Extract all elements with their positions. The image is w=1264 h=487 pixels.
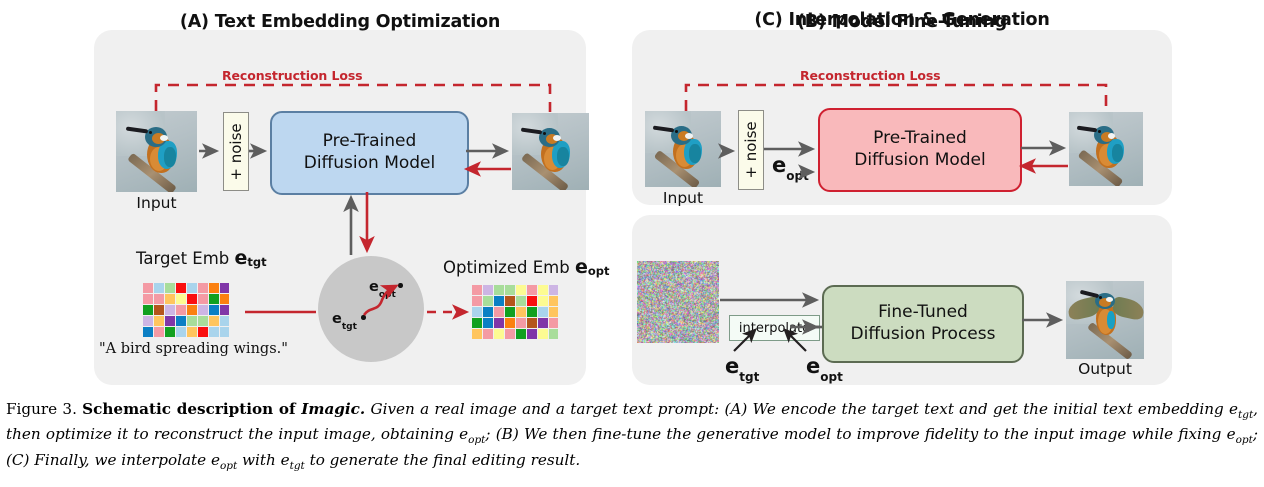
embedding-cell [516,285,526,295]
embedding-cell [198,283,208,293]
panel-b-noise-label: + noise [742,121,760,178]
panel-b-e-opt-sub: opt [786,169,809,183]
embedding-cell [176,316,186,326]
embedding-cell [505,329,515,339]
embedding-cell [154,294,164,304]
embedding-cell [549,307,559,317]
e-tgt-symbol: e [332,311,342,327]
panel-b-e-opt-symbol: e [772,153,786,177]
embedding-cell [527,318,537,328]
panel-c-e-tgt-symbol: e [725,354,739,378]
interpolate-box[interactable]: interpolate [729,315,820,341]
caption-body-1: Given a real image and a target text pro… [365,400,1238,418]
embedding-cell [549,296,559,306]
e-opt-point-label: eopt [369,279,396,298]
e-opt-symbol: e [369,279,379,295]
embedding-cell [538,285,548,295]
embedding-cell [538,296,548,306]
embedding-cell [494,296,504,306]
embedding-cell [176,327,186,337]
embedding-cell [187,283,197,293]
e-opt-dot [398,283,403,288]
caption-bold: Schematic description of [82,400,301,418]
target-embedding-grid [143,283,229,337]
optimized-embedding-grid [472,285,558,339]
panel-a-title: (A) Text Embedding Optimization [94,12,586,32]
embedding-cell [165,316,175,326]
embedding-cell [143,316,153,326]
embedding-cell [154,327,164,337]
embedding-cell [209,294,219,304]
panel-c-noise-image [637,261,719,343]
embedding-cell [538,329,548,339]
embedding-cell [494,285,504,295]
panel-c-title: (C) Interpolation & Generation [632,10,1172,30]
random-noise-canvas [637,261,719,343]
embedding-cell [165,327,175,337]
embedding-cell [472,285,482,295]
embedding-cell [220,294,230,304]
caption-body-5: with e [237,451,289,469]
caption-prefix: Figure 3. [6,400,77,418]
embedding-cell [549,329,559,339]
panel-a-output-image [512,113,589,190]
embedding-cell [516,296,526,306]
figure-stage: (A) Text Embedding Optimization Reconstr… [0,0,1264,487]
embedding-cell [516,307,526,317]
caption-sub-2: opt [468,434,485,446]
panel-a-model-box: Pre-Trained Diffusion Model [270,111,469,195]
embedding-cell [187,305,197,315]
panel-c-model-line1: Fine-Tuned [878,302,968,322]
panel-c-model-line2: Diffusion Process [851,324,996,344]
embedding-cell [483,307,493,317]
e-opt-sub: opt [379,290,396,300]
embedding-cell [472,329,482,339]
embedding-cell [154,305,164,315]
target-emb-symbol: e [235,247,248,269]
embedding-cell [220,327,230,337]
embedding-cell [527,285,537,295]
interpolate-label: interpolate [739,321,810,336]
optimized-emb-symbol: e [575,256,588,278]
embedding-cell [198,305,208,315]
panel-c-e-tgt-sub: tgt [739,370,759,384]
embedding-cell [143,327,153,337]
panel-c-output-caption: Output [1066,360,1144,378]
embedding-cell [516,329,526,339]
panel-a-target-emb-label: Target Emb etgt [136,247,267,269]
embedding-cell [220,305,230,315]
embedding-cell [143,305,153,315]
panel-a-input-image [116,111,197,192]
embedding-cell [483,296,493,306]
embedding-cell [549,318,559,328]
embedding-cell [483,318,493,328]
panel-b-output-image [1069,112,1143,186]
embedding-cell [209,327,219,337]
caption-body-3: ; (B) We then fine-tune the generative m… [485,425,1235,443]
panel-a-prompt-text: "A bird spreading wings." [99,341,288,357]
panel-c-model-box: Fine-Tuned Diffusion Process [822,285,1024,363]
panel-b-model-line1: Pre-Trained [873,128,967,148]
embedding-cell [143,283,153,293]
panel-a-model-line1: Pre-Trained [323,131,417,151]
embedding-cell [198,294,208,304]
embedding-cell [527,329,537,339]
embedding-cell [209,316,219,326]
figure-caption: Figure 3. Schematic description of Imagi… [6,398,1258,474]
embedding-cell [472,318,482,328]
embedding-cell [527,296,537,306]
panel-a-noise-label: + noise [227,123,245,180]
caption-bold-italic: Imagic. [301,400,365,418]
panel-a-optimized-emb-label: Optimized Emb eopt [443,256,609,278]
panel-c-e-tgt-label: etgt [725,354,759,381]
embedding-cell [483,329,493,339]
embedding-cell [516,318,526,328]
e-tgt-sub: tgt [342,322,357,332]
panel-c-e-opt-symbol: e [806,354,820,378]
embedding-cell [209,305,219,315]
embedding-cell [187,316,197,326]
embedding-cell [165,305,175,315]
embedding-cell [505,296,515,306]
embedding-cell [209,283,219,293]
panel-b-model-box: Pre-Trained Diffusion Model [818,108,1022,192]
embedding-cell [494,318,504,328]
embedding-cell [505,318,515,328]
optimized-emb-text: Optimized Emb [443,258,570,277]
embedding-cell [494,307,504,317]
embedding-cell [187,294,197,304]
e-tgt-point-label: etgt [332,311,357,330]
optimized-emb-sub: opt [588,264,610,278]
embedding-cell [483,285,493,295]
embedding-cell [505,285,515,295]
embedding-cell [165,294,175,304]
latent-space-circle [318,256,424,362]
embedding-cell [472,307,482,317]
e-tgt-dot [361,315,366,320]
embedding-cell [198,327,208,337]
panel-a-loss-label: Reconstruction Loss [222,68,363,83]
embedding-cell [538,318,548,328]
embedding-cell [176,305,186,315]
caption-sub-1: tgt [1238,409,1253,421]
embedding-cell [187,327,197,337]
panel-b-input-image [645,111,721,187]
caption-sub-3: opt [1236,434,1253,446]
caption-sub-5: tgt [290,460,305,472]
caption-sub-4: opt [220,460,237,472]
panel-a-input-caption: Input [116,194,197,212]
embedding-cell [176,294,186,304]
embedding-cell [154,316,164,326]
embedding-cell [220,283,230,293]
embedding-cell [176,283,186,293]
embedding-cell [549,285,559,295]
panel-c-output-image [1066,281,1144,359]
target-emb-sub: tgt [247,255,266,269]
embedding-cell [472,296,482,306]
panel-b-noise-box: + noise [738,110,764,190]
embedding-cell [220,316,230,326]
panel-b-input-caption: Input [645,189,721,207]
embedding-cell [165,283,175,293]
embedding-cell [143,294,153,304]
embedding-cell [505,307,515,317]
embedding-cell [527,307,537,317]
panel-b-model-line2: Diffusion Model [854,150,986,170]
panel-a-noise-box: + noise [223,112,249,191]
caption-body-6: to generate the final editing result. [305,451,580,469]
panel-b-loss-label: Reconstruction Loss [800,68,941,83]
embedding-cell [198,316,208,326]
panel-a-model-line2: Diffusion Model [304,153,436,173]
embedding-cell [494,329,504,339]
embedding-cell [154,283,164,293]
panel-b-e-opt-label: eopt [772,153,809,180]
embedding-cell [538,307,548,317]
target-emb-text: Target Emb [136,249,229,268]
panel-c-e-opt-sub: opt [820,370,843,384]
